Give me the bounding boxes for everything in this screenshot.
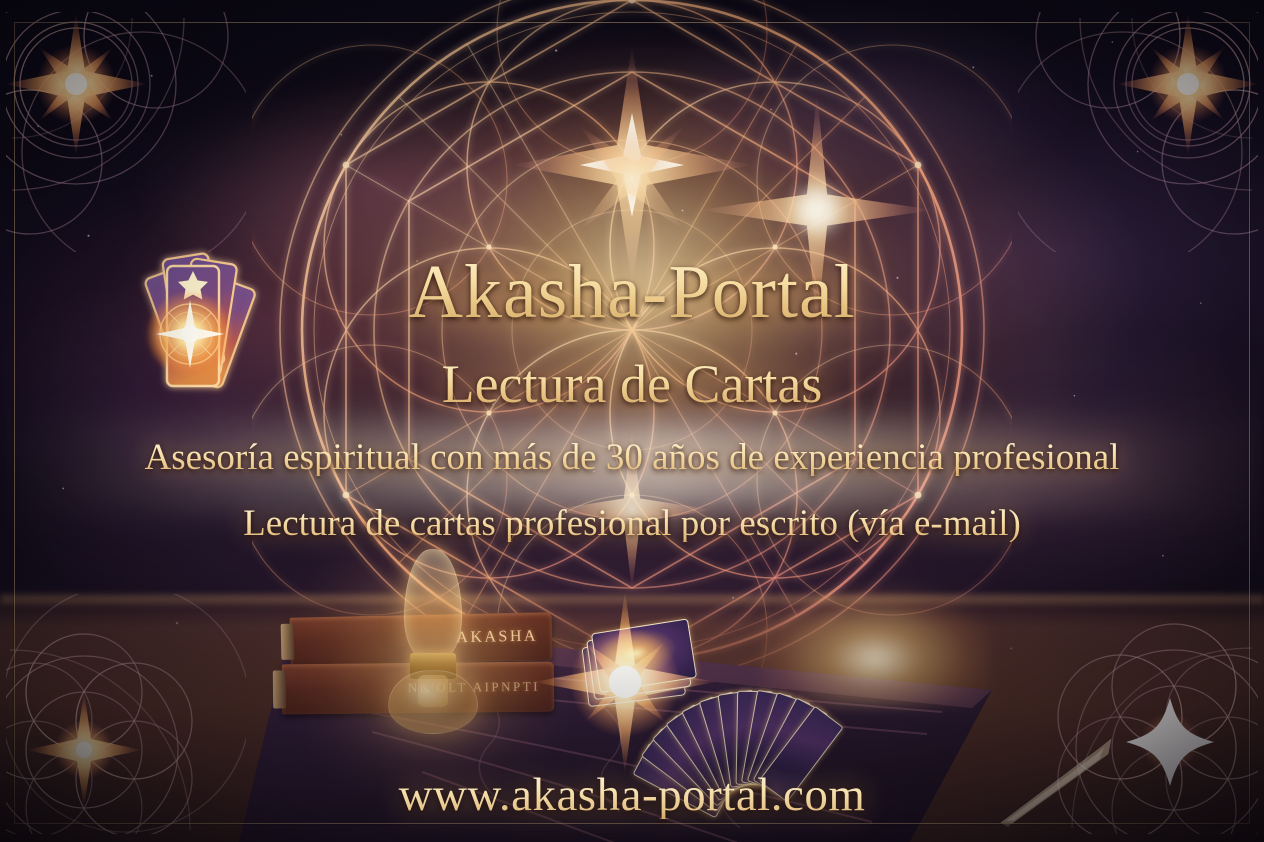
sacred-geometry-mandala-icon bbox=[252, 0, 1012, 710]
eight-pointed-star-icon bbox=[1018, 12, 1258, 252]
flower-of-life-star-icon bbox=[6, 594, 246, 834]
fan-card bbox=[681, 696, 755, 796]
fan-card bbox=[753, 697, 829, 797]
website-url[interactable]: www.akasha-portal.com bbox=[0, 772, 1264, 819]
quill-pen-icon bbox=[980, 728, 1141, 831]
fan-card bbox=[665, 704, 748, 802]
eight-pointed-star-icon bbox=[6, 12, 246, 252]
tarot-card-fan-icon bbox=[118, 222, 268, 402]
fan-card bbox=[758, 706, 843, 803]
fan-card bbox=[641, 727, 738, 812]
akasha-portal-banner: AKASHA NK'OLT AIPNPTI bbox=[0, 0, 1264, 842]
four-pointed-sparkle-icon bbox=[1018, 594, 1258, 834]
fan-card bbox=[652, 714, 743, 807]
fan-card bbox=[633, 742, 733, 818]
